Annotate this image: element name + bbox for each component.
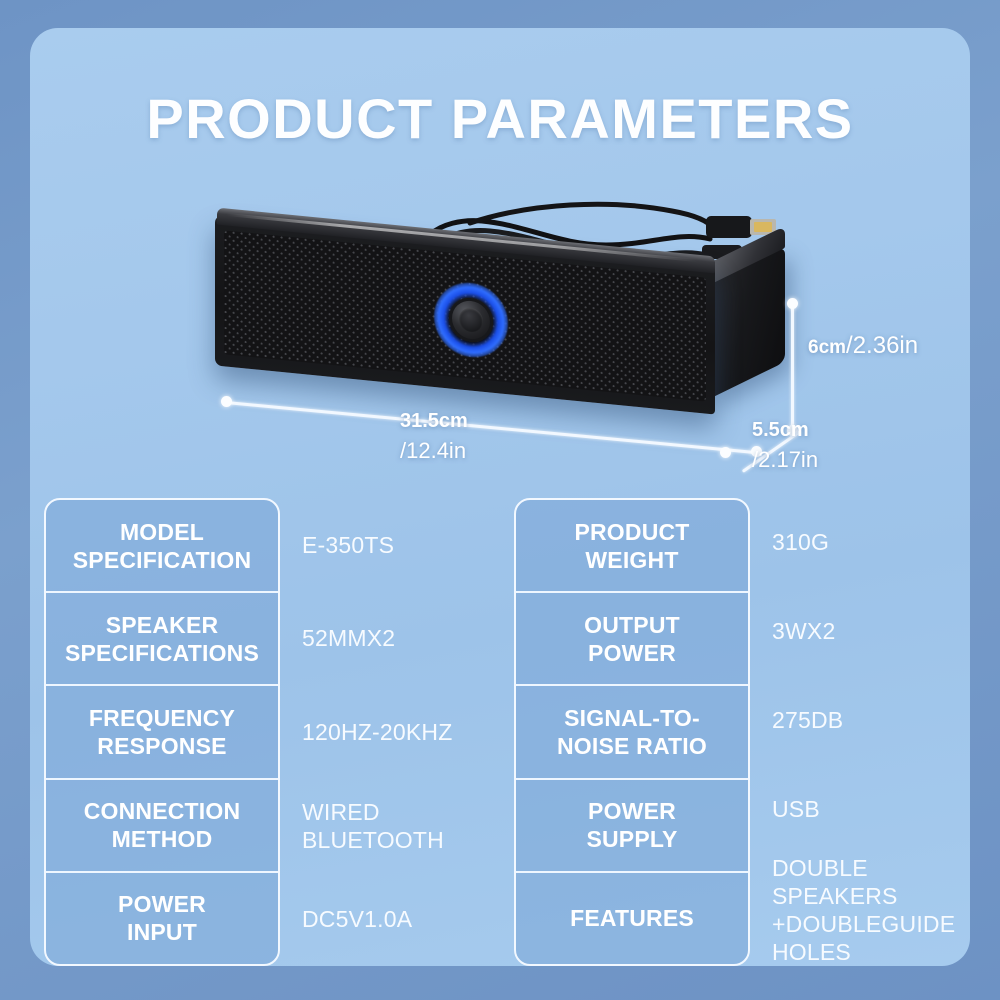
spec-label: OUTPUTPOWER	[516, 593, 748, 686]
height-metric: 6cm	[808, 337, 846, 358]
spec-value: 52MMX2	[302, 592, 500, 686]
spec-label: FEATURES	[516, 873, 748, 964]
spec-label: POWERSUPPLY	[516, 780, 748, 873]
spec-value-column-left: E-350TS 52MMX2 120HZ-20KHZ WIREDBLUETOOT…	[280, 498, 500, 966]
depth-dimension-dot	[720, 447, 731, 458]
spec-label: PRODUCTWEIGHT	[516, 500, 748, 593]
soundbar-body	[215, 228, 795, 438]
spec-label: POWERINPUT	[46, 873, 278, 964]
spec-value-column-right: 310G 3WX2 275DB USB DOUBLE SPEAKERS+DOUB…	[750, 498, 970, 966]
spec-label: SPEAKERSPECIFICATIONS	[46, 593, 278, 686]
spec-value: 3WX2	[772, 587, 970, 676]
spec-value: WIREDBLUETOOTH	[302, 779, 500, 873]
spec-column-left: MODELSPECIFICATION SPEAKERSPECIFICATIONS…	[30, 498, 500, 966]
specification-table: MODELSPECIFICATION SPEAKERSPECIFICATIONS…	[30, 498, 970, 966]
spec-value: DC5V1.0A	[302, 872, 500, 966]
page-title: PRODUCT PARAMETERS	[30, 86, 970, 151]
spec-label: SIGNAL-TO-NOISE RATIO	[516, 686, 748, 779]
spec-value: E-350TS	[302, 498, 500, 592]
width-dimension-start-dot	[221, 396, 232, 407]
height-dimension-top-dot	[787, 298, 798, 309]
height-imperial: /2.36in	[846, 332, 918, 359]
width-imperial: /12.4in	[400, 438, 466, 463]
spec-value: USB	[772, 765, 970, 854]
spec-label: MODELSPECIFICATION	[46, 500, 278, 593]
width-metric: 31.5cm	[400, 410, 468, 432]
content-panel: PRODUCT PARAMETERS	[30, 28, 970, 966]
spec-label: FREQUENCYRESPONSE	[46, 686, 278, 779]
spec-label-box-right: PRODUCTWEIGHT OUTPUTPOWER SIGNAL-TO-NOIS…	[514, 498, 750, 966]
spec-value: 120HZ-20KHZ	[302, 685, 500, 779]
width-dimension-label: 31.5cm /12.4in	[400, 408, 468, 466]
height-dimension-line	[791, 303, 794, 431]
spec-label-box-left: MODELSPECIFICATION SPEAKERSPECIFICATIONS…	[44, 498, 280, 966]
height-dimension-label: 6cm/2.36in	[808, 332, 918, 360]
spec-label: CONNECTIONMETHOD	[46, 780, 278, 873]
spec-column-right: PRODUCTWEIGHT OUTPUTPOWER SIGNAL-TO-NOIS…	[500, 498, 970, 966]
spec-value: 310G	[772, 498, 970, 587]
spec-value: DOUBLE SPEAKERS+DOUBLEGUIDEHOLES	[772, 854, 970, 966]
depth-dimension-label: 5.5cm /2.17in	[752, 416, 818, 476]
depth-metric: 5.5cm	[752, 419, 809, 441]
product-photo: 31.5cm /12.4in 6cm/2.36in 5.5cm /2.17in	[30, 158, 970, 498]
product-parameters-page: PRODUCT PARAMETERS	[0, 0, 1000, 1000]
depth-imperial: /2.17in	[752, 447, 818, 472]
spec-value: 275DB	[772, 676, 970, 765]
